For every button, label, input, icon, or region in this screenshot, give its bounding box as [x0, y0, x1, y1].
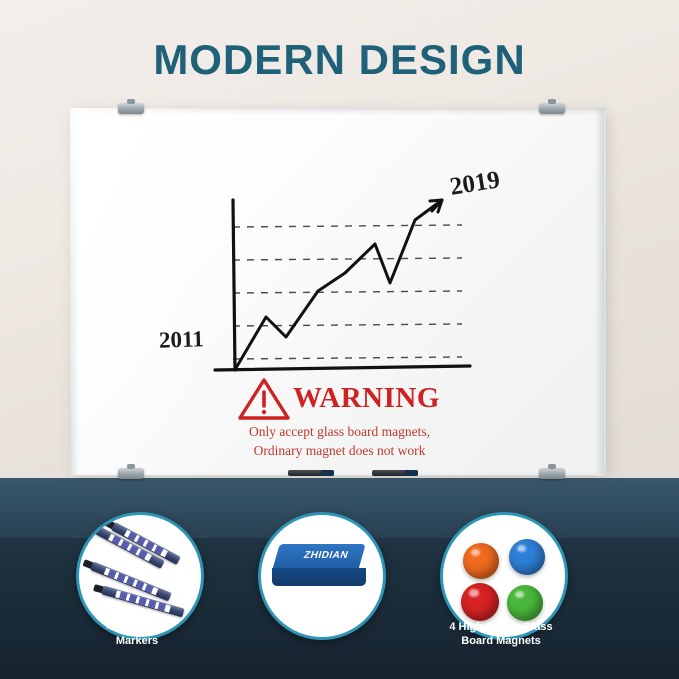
hand-drawn-chart [70, 108, 604, 474]
magnet-green [507, 585, 543, 621]
feature-caption-eraser: 1 Eraser [248, 620, 390, 634]
chart-gridlines [233, 225, 462, 359]
eraser-brand-label: ZHIDIAN [294, 550, 357, 561]
chart-x-axis [215, 366, 470, 370]
feature-caption-magnets-line-1: 4 High-Power Glass [430, 620, 572, 634]
eraser-side-face [272, 568, 366, 586]
tray-marker-right [372, 470, 418, 476]
chart-y-axis [233, 200, 235, 370]
magnet-orange [463, 543, 499, 579]
warning-heading: WARNING [293, 382, 440, 415]
magnet-blue [509, 539, 545, 575]
tray-marker-left [288, 470, 334, 476]
feature-caption-markers: 4 Dry Erase Markers [66, 620, 208, 648]
feature-caption-markers-line-1: 4 Dry Erase [66, 620, 208, 634]
product-infographic: MODERN DESIGN 2011 2019 WARNING Only ac [0, 0, 679, 679]
page-title: MODERN DESIGN [0, 36, 679, 84]
warning-triangle-icon [238, 377, 290, 421]
warning-text-line-2: Ordinary magnet does not work [0, 443, 679, 459]
warning-text-line-1: Only accept glass board magnets, [0, 424, 679, 440]
magnet-red [461, 583, 499, 621]
feature-caption-eraser-line-1: 1 Eraser [248, 620, 390, 634]
feature-caption-markers-line-2: Markers [66, 634, 208, 648]
chart-label-start-year: 2011 [159, 326, 205, 354]
feature-caption-magnets-line-2: Board Magnets [430, 634, 572, 648]
feature-caption-magnets: 4 High-Power Glass Board Magnets [430, 620, 572, 648]
chart-line [236, 200, 442, 368]
